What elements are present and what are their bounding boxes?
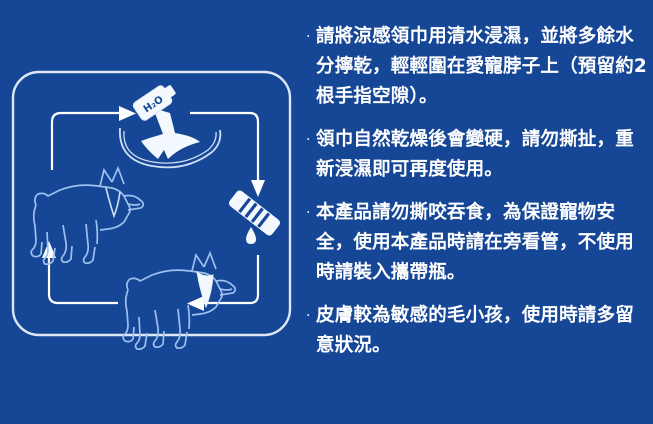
water-drop (246, 227, 256, 244)
instruction-list: · 請將涼感領巾用清水浸濕，並將多餘水分擰乾，輕輕圍在愛寵脖子上（預留約2根手指… (300, 0, 653, 424)
list-item: · 領巾自然乾燥後會變硬，請勿撕扯，重新浸濕即可再度使用。 (304, 125, 647, 185)
list-item: · 本產品請勿撕咬吞食，為保證寵物安全，使用本產品時請在旁看管，不使用時請裝入攜… (304, 198, 647, 288)
bullet-dot-icon: · (304, 125, 316, 155)
instruction-text-soak-and-wrap: 請將涼感領巾用清水浸濕，並將多餘水分擰乾，輕輕圍在愛寵脖子上（預留約2根手指空隙… (316, 22, 647, 112)
bullet-dot-icon: · (304, 22, 316, 52)
arrow-wring-to-wet-dog (187, 255, 258, 311)
soak-bandana-node: H₂O (120, 80, 220, 167)
arrow-wet-dog-to-dry-dog (42, 241, 118, 303)
usage-cycle-illustration: H₂O (0, 0, 300, 424)
bullet-dot-icon: · (304, 301, 316, 331)
dog-wearing-dry-bandana-node (31, 168, 143, 264)
product-instruction-panel: H₂O (0, 0, 653, 424)
water-bottle: H₂O (132, 80, 179, 121)
instruction-text-sensitive-skin-warning: 皮膚較為敏感的毛小孩，使用時請多留意狀況。 (316, 301, 647, 361)
dry-bandana (106, 188, 120, 216)
list-item: · 皮膚較為敏感的毛小孩，使用時請多留意狀況。 (304, 301, 647, 361)
list-item: · 請將涼感領巾用清水浸濕，並將多餘水分擰乾，輕輕圍在愛寵脖子上（預留約2根手指… (304, 22, 647, 112)
instruction-text-re-wet-when-dry: 領巾自然乾燥後會變硬，請勿撕扯，重新浸濕即可再度使用。 (316, 125, 647, 185)
instruction-text-do-not-chew: 本產品請勿撕咬吞食，為保證寵物安全，使用本產品時請在旁看管，不使用時請裝入攜帶瓶… (316, 198, 647, 288)
wring-bandana-node (227, 189, 281, 244)
arrow-dry-dog-to-soak (52, 106, 136, 170)
bullet-dot-icon: · (304, 198, 316, 228)
